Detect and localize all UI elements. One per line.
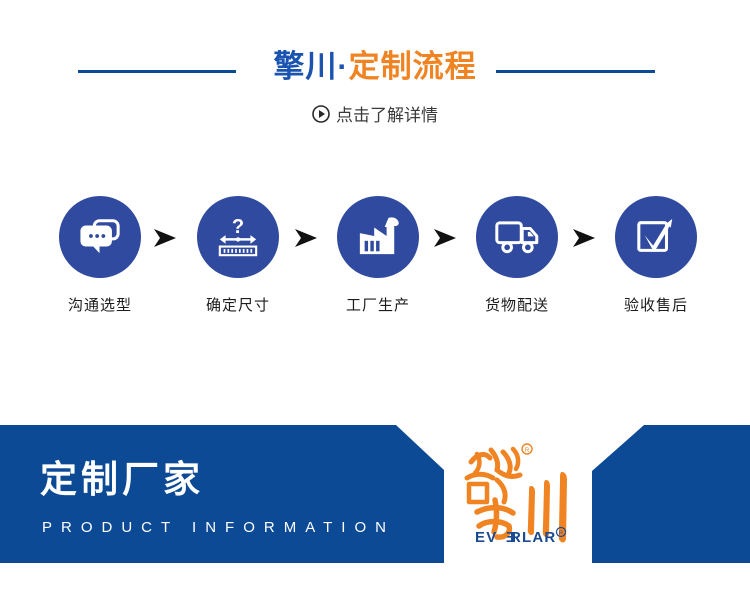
process-step-2-label: 确定尺寸 (190, 294, 286, 315)
process-step-1[interactable]: 沟通选型 (52, 196, 148, 315)
chat-bubbles-icon (78, 216, 122, 258)
process-step-5[interactable]: 验收售后 (608, 196, 704, 315)
process-arrow-1 (151, 227, 179, 249)
step-icon-circle (59, 196, 141, 278)
subtitle[interactable]: 点击了解详情 (0, 104, 750, 128)
process-step-4-label: 货物配送 (469, 294, 565, 315)
process-step-5-label: 验收售后 (608, 294, 704, 315)
process-steps: 沟通选型 ? (0, 196, 750, 331)
process-step-3[interactable]: 工厂生产 (330, 196, 426, 315)
everlar-logo: R EV E RLAR R (457, 440, 582, 552)
factory-icon (355, 216, 401, 258)
subtitle-label: 点击了解详情 (336, 106, 438, 125)
process-step-1-label: 沟通选型 (52, 294, 148, 315)
process-step-4[interactable]: 货物配送 (469, 196, 565, 315)
delivery-truck-icon (494, 218, 541, 256)
svg-text:R: R (559, 531, 563, 537)
banner-title-cn: 定制厂家 (40, 457, 204, 503)
logo-registered-upper: R (525, 448, 530, 454)
header-section: 擎川·定制流程 点击了解详情 (0, 0, 750, 150)
process-arrow-4 (570, 227, 598, 249)
customization-process-page: 擎川·定制流程 点击了解详情 (0, 0, 750, 590)
logo-wordmark: EV (475, 529, 497, 546)
process-step-3-label: 工厂生产 (330, 294, 426, 315)
process-arrow-2 (292, 227, 320, 249)
step-icon-circle (337, 196, 419, 278)
bottom-banner: 定制厂家 PRODUCT INFORMATION (0, 425, 750, 563)
step-icon-circle: ? (197, 196, 279, 278)
process-arrow-3 (431, 227, 459, 249)
banner-right-panel (592, 425, 750, 563)
page-title: 擎川·定制流程 (0, 48, 750, 86)
banner-title-en: PRODUCT INFORMATION (42, 518, 395, 538)
svg-text:?: ? (232, 216, 244, 238)
page-title-separator: · (337, 49, 348, 84)
measure-ruler-icon: ? (216, 215, 260, 259)
page-title-brand: 擎川 (273, 49, 337, 84)
process-step-2[interactable]: ? (190, 196, 286, 315)
step-icon-circle (615, 196, 697, 278)
svg-text:RLAR: RLAR (510, 529, 556, 546)
page-title-subject: 定制流程 (349, 49, 477, 84)
checkbox-check-icon (634, 216, 678, 258)
play-circle-icon (312, 105, 330, 123)
step-icon-circle (476, 196, 558, 278)
